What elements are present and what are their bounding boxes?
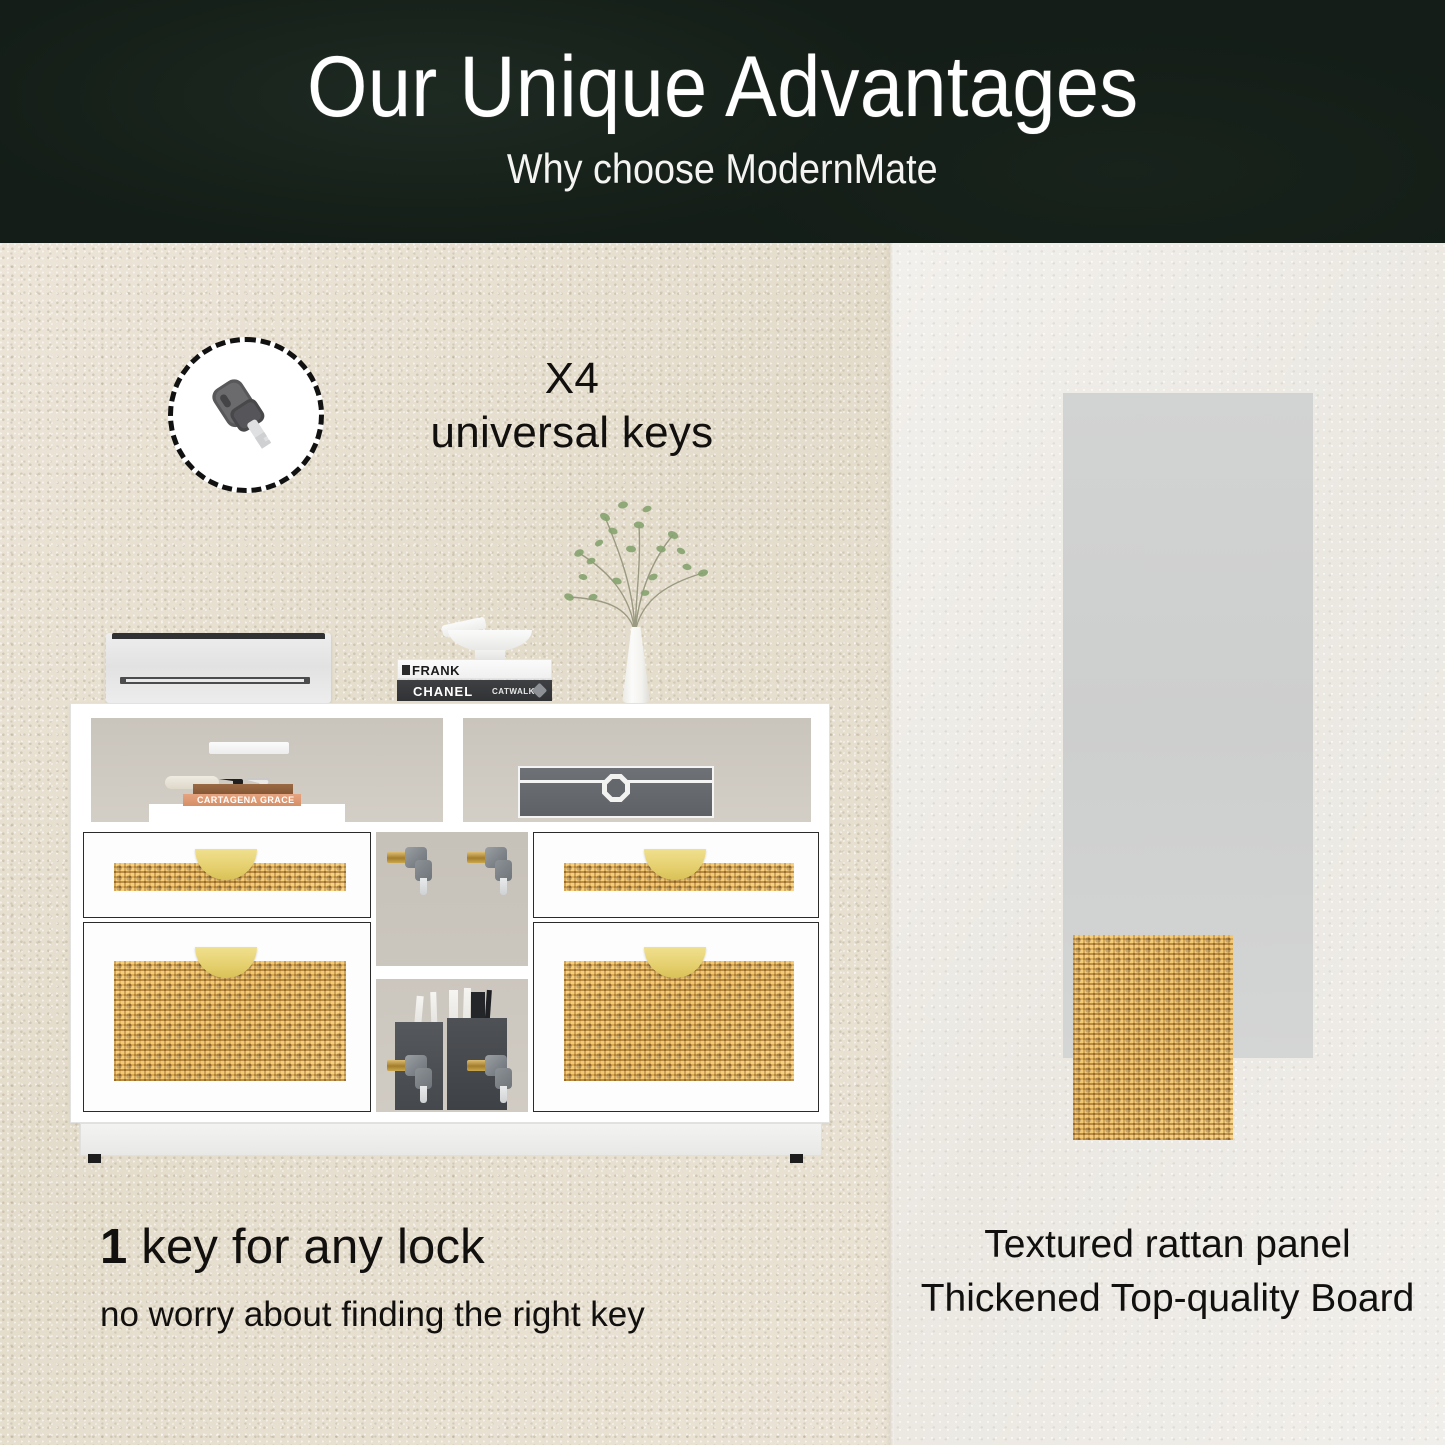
printer-device: [106, 633, 331, 703]
vase-body: [622, 627, 650, 703]
lock-lower-right: [467, 1052, 529, 1096]
left-feature-subline: no worry about finding the right key: [100, 1297, 820, 1334]
lock-upper-left: [387, 844, 449, 888]
greenery-branches-icon: [535, 473, 735, 633]
book-orange: CARTAGENA GRACE: [183, 794, 301, 806]
decorative-white-bowl: [442, 618, 538, 660]
universal-key-badge: [168, 337, 324, 493]
left-feature-headline: 1 key for any lock: [100, 1222, 820, 1273]
left-feature-headline-rest: key for any lock: [127, 1220, 484, 1274]
book-chanel-subtitle: CATWALK: [492, 687, 535, 696]
lock-barrel-icon: [467, 852, 487, 863]
drawer-bottom-right[interactable]: [533, 922, 819, 1112]
rattan-panel-swatch: [1073, 935, 1233, 1140]
right-feature-line1: Textured rattan panel: [890, 1222, 1445, 1268]
book-chanel-title: CHANEL: [413, 684, 473, 699]
open-cubby-right: [463, 718, 811, 822]
book-chanel: CHANEL CATWALK: [397, 680, 552, 701]
open-cubby-left: CARTAGENA GRACE: [91, 718, 443, 822]
printer-lid: [112, 633, 325, 639]
trunk-clasp-inner: [607, 779, 625, 797]
cabinet-foot-left: [88, 1154, 101, 1163]
storage-cabinet-illustration: FRANK CHANEL CATWALK: [70, 703, 830, 1155]
rattan-insert: [564, 961, 794, 1081]
lock-upper-right: [467, 844, 529, 888]
book-frank-title: FRANK: [412, 663, 460, 678]
universal-key-caption: X4 universal keys: [372, 352, 772, 459]
bowl-body: [448, 630, 532, 652]
cubby-top-strip: [209, 742, 289, 754]
key-blade-icon: [500, 878, 507, 895]
book-cartagena-title: CARTAGENA GRACE: [197, 795, 295, 805]
car-key-fob-icon: [196, 365, 296, 465]
rattan-insert: [114, 961, 346, 1081]
right-feature-line2: Thickened Top-quality Board: [890, 1276, 1445, 1322]
white-vase: [613, 601, 659, 703]
cabinet-body: CARTAGENA GRACE: [70, 703, 830, 1123]
drawer-top-right[interactable]: [533, 832, 819, 918]
book-cartagena-grace: CARTAGENA GRACE: [183, 776, 301, 806]
key-blade-icon: [500, 1086, 507, 1103]
right-feature-caption: Textured rattan panel Thickened Top-qual…: [890, 1222, 1445, 1322]
key-count-label: X4: [372, 352, 772, 406]
book-spine-decor: [402, 665, 410, 675]
lock-barrel-icon: [387, 1060, 407, 1071]
key-description-label: universal keys: [372, 406, 772, 460]
lock-barrel-icon: [467, 1060, 487, 1071]
center-column-divider-shelf: [376, 966, 528, 979]
book-stack-on-top: FRANK CHANEL CATWALK: [397, 659, 552, 703]
key-blade-icon: [420, 1086, 427, 1103]
book-frank: FRANK: [397, 659, 552, 679]
cabinet-foot-right: [790, 1154, 803, 1163]
header-banner: Our Unique Advantages Why choose ModernM…: [0, 0, 1445, 243]
left-feature-number: 1: [100, 1220, 127, 1274]
lock-barrel-icon: [387, 852, 407, 863]
infographic-canvas: Our Unique Advantages Why choose ModernM…: [0, 0, 1445, 1445]
printer-paper: [126, 679, 304, 682]
page-title: Our Unique Advantages: [307, 44, 1138, 130]
key-blade-icon: [420, 878, 427, 895]
decorative-storage-trunk: [518, 766, 714, 818]
drawer-bottom-left[interactable]: [83, 922, 371, 1112]
left-feature-caption: 1 key for any lock no worry about findin…: [100, 1222, 820, 1334]
lock-lower-left: [387, 1052, 449, 1096]
cabinet-base-plinth: [80, 1123, 822, 1156]
page-subtitle: Why choose ModernMate: [507, 148, 938, 190]
drawer-top-left[interactable]: [83, 832, 371, 918]
